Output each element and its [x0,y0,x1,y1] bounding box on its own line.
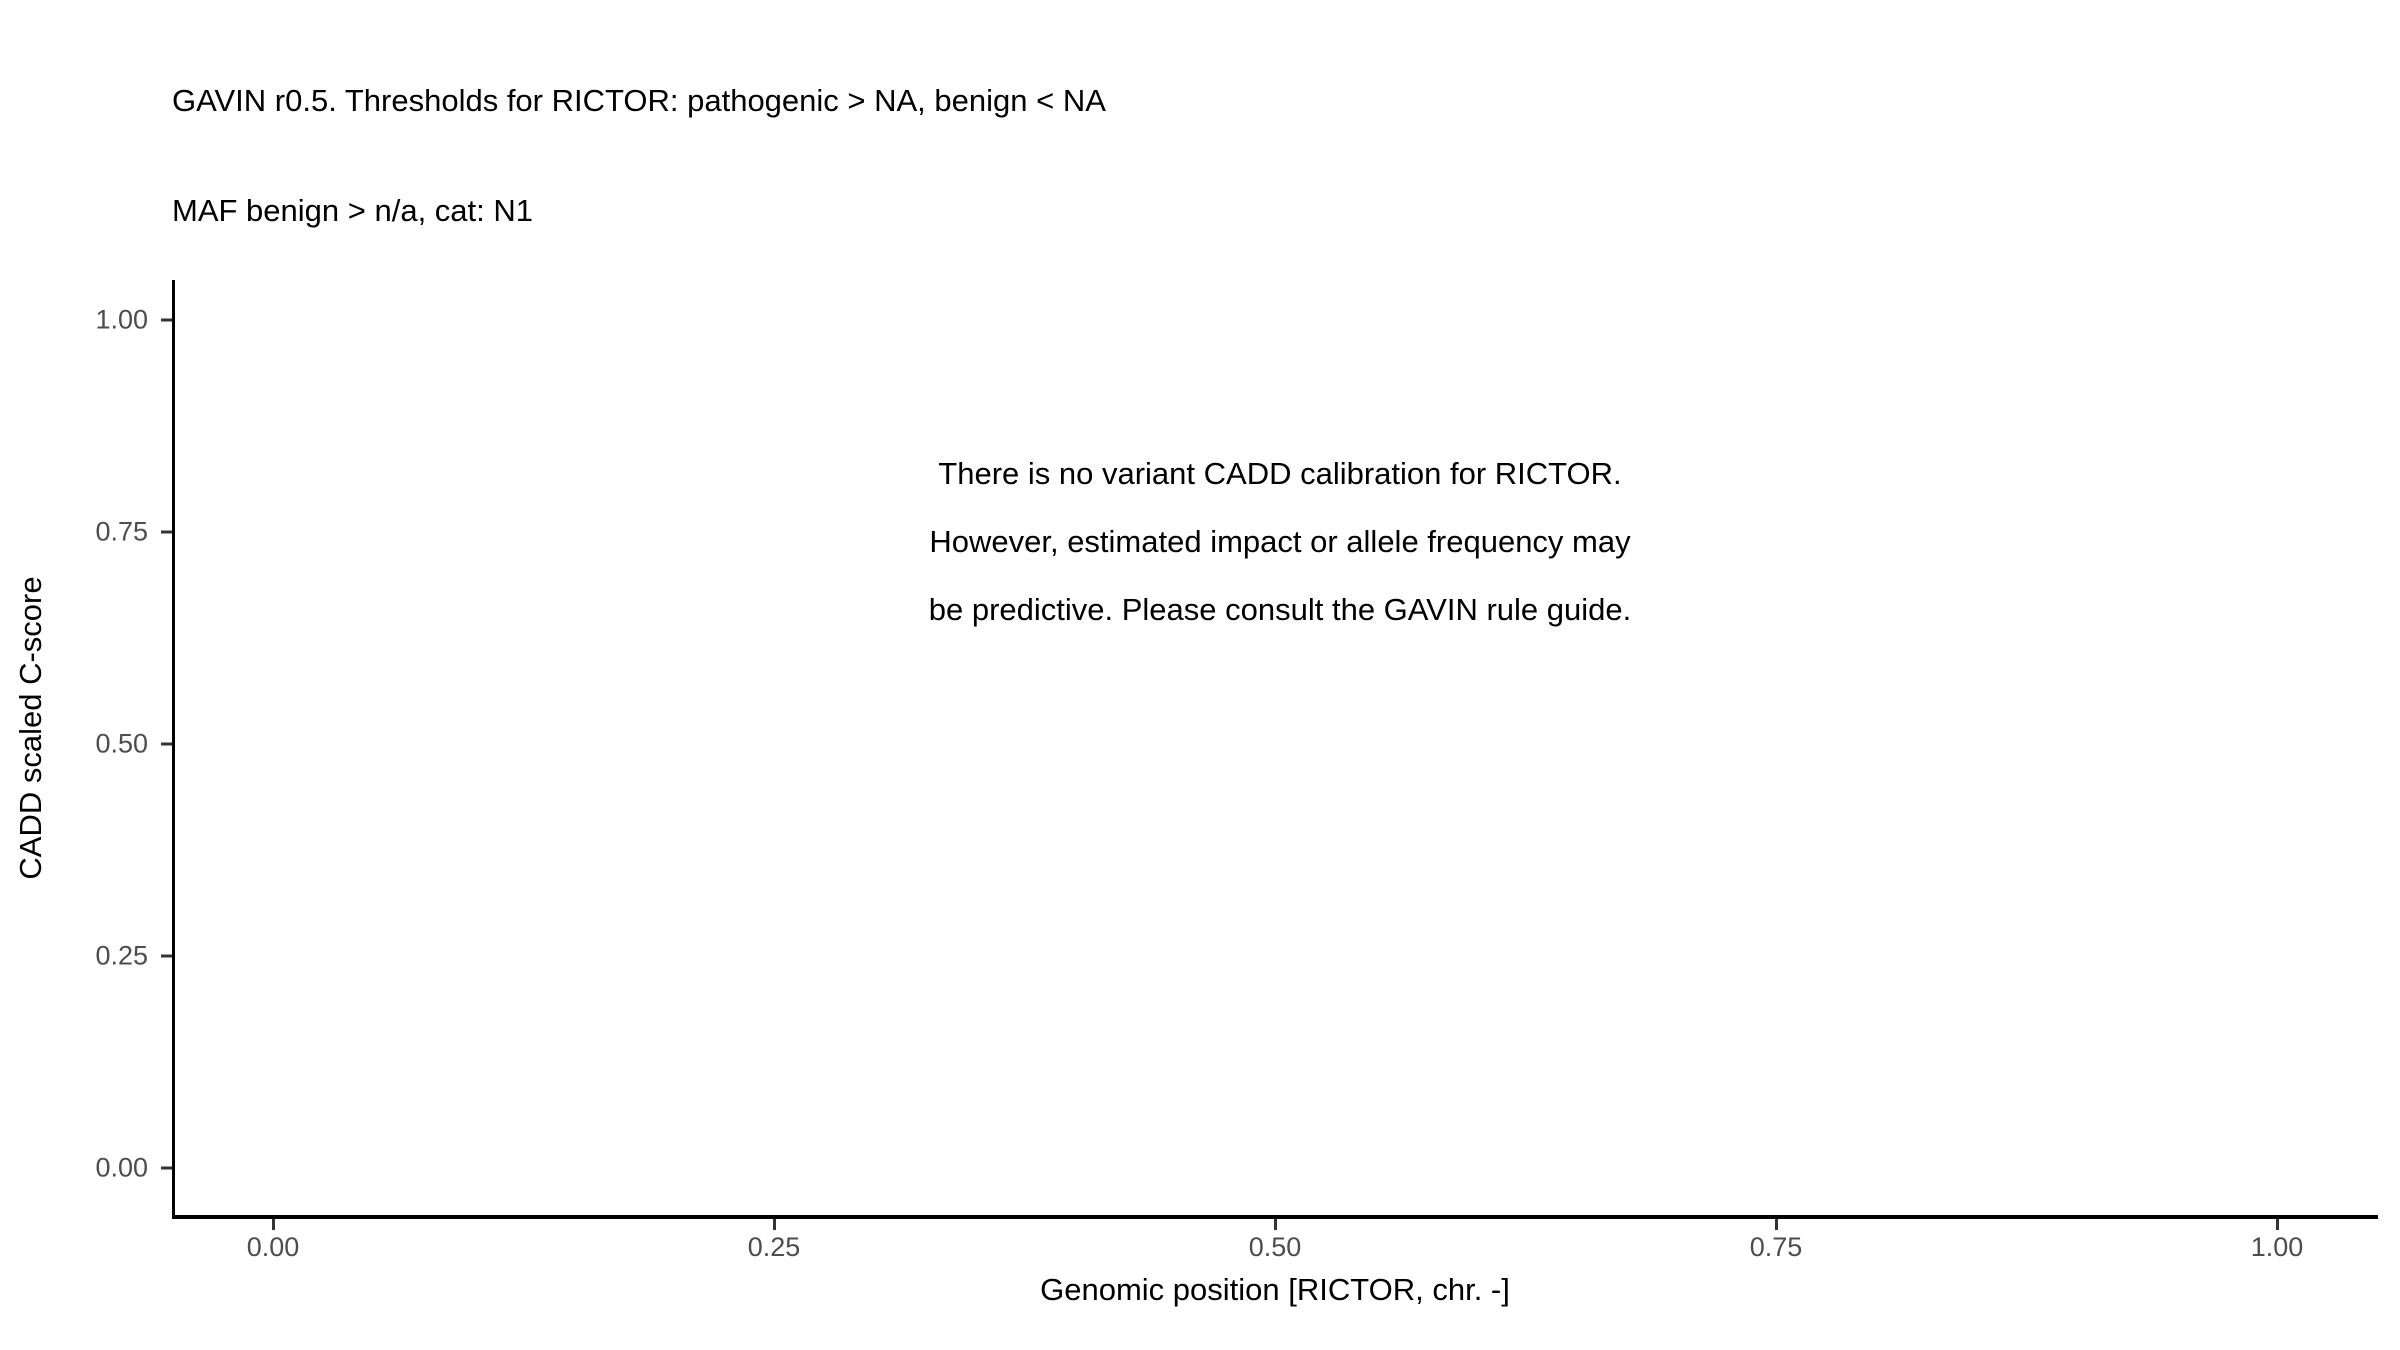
x-tick-mark-2 [1274,1219,1277,1230]
x-tick-label-3: 0.75 [1696,1232,1856,1263]
y-tick-mark-3 [161,531,172,534]
annotation-line-2: However, estimated impact or allele freq… [280,508,2280,576]
x-tick-mark-1 [773,1219,776,1230]
y-tick-mark-4 [161,319,172,322]
y-tick-label-3: 0.75 [38,517,148,548]
annotation-line-1: There is no variant CADD calibration for… [280,440,2280,508]
no-calibration-annotation: There is no variant CADD calibration for… [280,440,2280,644]
y-tick-mark-1 [161,955,172,958]
y-tick-label-2: 0.50 [38,729,148,760]
plot-title-line-1: GAVIN r0.5. Thresholds for RICTOR: patho… [172,83,2372,120]
plot-panel [172,280,2378,1217]
y-tick-mark-0 [161,1167,172,1170]
y-axis-line [172,280,175,1218]
y-tick-label-4: 1.00 [38,305,148,336]
plot-title-line-2: MAF benign > n/a, cat: N1 [172,193,2372,230]
x-tick-mark-4 [2276,1219,2279,1230]
x-tick-mark-3 [1775,1219,1778,1230]
y-tick-mark-2 [161,743,172,746]
x-tick-label-4: 1.00 [2197,1232,2357,1263]
y-tick-label-0: 0.00 [38,1153,148,1184]
annotation-line-3: be predictive. Please consult the GAVIN … [280,576,2280,644]
y-tick-label-1: 0.25 [38,941,148,972]
x-tick-label-0: 0.00 [193,1232,353,1263]
y-axis-tick-labels: 0.00 0.25 0.50 0.75 1.00 [0,0,148,1350]
x-tick-label-1: 0.25 [694,1232,854,1263]
x-axis-title: Genomic position [RICTOR, chr. -] [172,1272,2378,1308]
x-tick-mark-0 [272,1219,275,1230]
x-tick-label-2: 0.50 [1195,1232,1355,1263]
